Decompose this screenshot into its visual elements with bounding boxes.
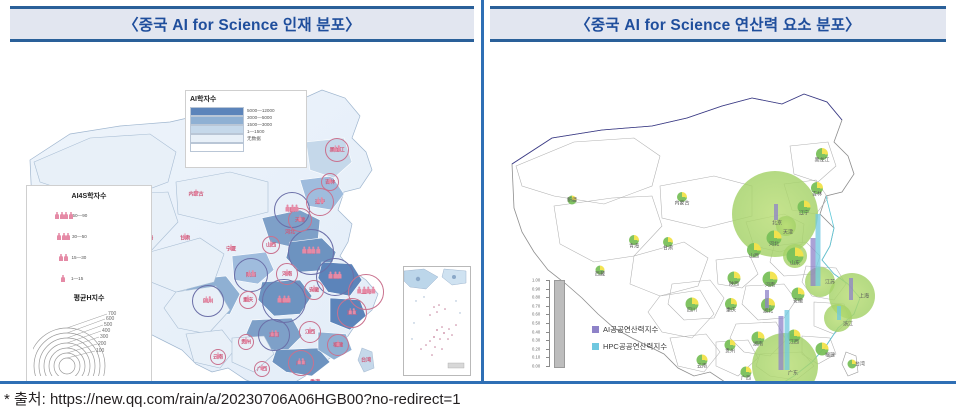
panel-divider	[481, 0, 484, 384]
right-map: 新疆 西藏 青海 甘肃 内蒙古 黑龙江 吉林 辽宁 北京 天津 河北 山西 山东…	[482, 42, 956, 382]
hpc-bar	[816, 214, 821, 286]
province-label: 安徽	[793, 298, 803, 305]
province-label: 湖北	[763, 308, 773, 315]
people-icon	[205, 296, 212, 302]
province-label: 江苏	[825, 279, 835, 286]
hpc-color-swatch	[592, 343, 599, 350]
ai-color-swatch	[592, 326, 599, 333]
people-icon	[334, 145, 341, 151]
ai-bar	[849, 278, 853, 300]
province-label: 甘肃	[663, 245, 673, 252]
people-icon	[317, 197, 324, 203]
people-icon	[278, 296, 291, 303]
province-label: 湖南	[753, 341, 763, 348]
left-map: 新疆 西藏 青海 甘肃 内蒙古 黑龙江 吉林 辽宁 北京 天津 河北 山西 山东…	[0, 42, 482, 382]
scale-tick: 0.50	[532, 321, 540, 326]
people-icon	[271, 330, 278, 336]
legend-key-ai-label: AI공공연산력지수	[603, 324, 658, 335]
legend-ai4s-range: 30—50	[72, 234, 87, 239]
figure-page: 〈중국 AI for Science 인재 분포〉	[0, 0, 956, 418]
figure-bottom-rule	[0, 381, 956, 384]
legend-ai4s-range: 15—30	[72, 255, 87, 260]
legend-ai4s-row: 30—50	[33, 226, 145, 247]
hindex-tick: 100	[96, 348, 105, 354]
province-label: 浙江	[843, 321, 853, 328]
province-label: 重庆	[726, 307, 736, 314]
province-label: 上海	[859, 293, 869, 300]
province-label: 山东	[790, 260, 800, 267]
legend-ai4s-range: 50—90	[73, 213, 88, 218]
province-label: 辽宁	[799, 210, 809, 217]
province-label: 贵州	[725, 348, 735, 355]
people-icon	[230, 244, 233, 250]
scale-tick: 0.10	[532, 355, 540, 360]
scale-tick: 0.60	[532, 312, 540, 317]
footer: * 출처: https://new.qq.com/rain/a/20230706…	[0, 386, 956, 418]
province-label: 新疆	[567, 197, 577, 204]
legend-ai-scholars-title: AI학자수	[190, 94, 302, 104]
people-icon	[299, 215, 302, 221]
people-icon	[217, 352, 220, 358]
legend-hindex-circles: 700 600 500 400 300 200 100	[33, 304, 133, 376]
people-icon	[302, 247, 320, 254]
ai-bar	[779, 316, 784, 370]
province-label: 陕西	[729, 281, 739, 288]
scale-tick: 1.00	[532, 278, 540, 283]
province-label: 吉林	[812, 191, 822, 198]
legend-ai4s-title: AI4S학자수	[33, 191, 145, 201]
people-icon	[184, 233, 187, 239]
legend-ai-scholars: AI학자수 5000—12000 3000—5000 1500—3000 1—1…	[185, 90, 307, 168]
people-icon	[286, 269, 289, 275]
people-icon	[313, 285, 316, 291]
province-label: 广东	[788, 370, 798, 377]
people-icon	[248, 270, 255, 276]
people-icon	[329, 272, 342, 279]
province-label: 河北	[769, 241, 779, 248]
province-label: 江西	[789, 339, 799, 346]
legend-ai4s-row: 1—15	[33, 268, 145, 289]
hpc-bar	[837, 306, 841, 320]
scale-tick: 0.80	[532, 295, 540, 300]
hindex-tick: 300	[100, 334, 109, 340]
province-label: 云南	[697, 363, 707, 370]
scale-tick: 0.00	[532, 364, 540, 369]
province-label: 台湾	[361, 357, 371, 364]
province-label: 四川	[687, 307, 697, 314]
province-label: 黑龙江	[814, 157, 829, 164]
province-label: 天津	[783, 229, 793, 236]
inset-map-svg	[404, 267, 468, 373]
scale-tick: 0.70	[532, 303, 540, 308]
people-icon	[298, 358, 305, 364]
scale-tick: 0.40	[532, 329, 540, 334]
legend-ai4s-row: 50—90	[33, 205, 145, 226]
legend-range: 3000—5000	[247, 114, 275, 121]
people-icon	[309, 327, 312, 333]
scale-tick: 0.90	[532, 286, 540, 291]
legend-range: 1—1500	[247, 128, 275, 135]
people-icon	[349, 308, 356, 314]
people-icon	[337, 340, 340, 346]
right-panel-header: 〈중국 AI for Science 연산력 요소 분포〉	[490, 6, 946, 42]
province-label: 青海	[629, 243, 639, 250]
ai-bar	[765, 290, 769, 308]
source-note: * 출처: https://new.qq.com/rain/a/20230706…	[4, 388, 461, 409]
province-label: 西藏	[595, 271, 605, 278]
scale-tick: 0.20	[532, 346, 540, 351]
people-icon	[247, 295, 250, 301]
legend-ai4s-and-hindex: AI4S학자수 50—90 30—50	[26, 185, 152, 382]
legend-key-ai: AI공공연산력지수	[592, 324, 658, 335]
left-panel-title: 〈중국 AI for Science 인재 분포〉	[123, 13, 361, 35]
scale-bar	[554, 280, 565, 368]
people-icon	[286, 205, 299, 212]
province-label: 山西	[749, 253, 759, 260]
legend-ai4s-range: 1—15	[71, 276, 83, 281]
people-icon	[245, 337, 248, 343]
people-icon	[357, 287, 375, 294]
inset-map-south-china-sea	[403, 266, 471, 376]
legend-ai4s-row: 15—30	[33, 247, 145, 268]
panel-right: 〈중국 AI for Science 연산력 요소 분포〉	[482, 0, 956, 384]
legend-range: 无数据	[247, 135, 275, 142]
people-icon	[329, 177, 332, 183]
province-label: 内蒙古	[674, 200, 689, 207]
left-panel-header: 〈중국 AI for Science 인재 분포〉	[10, 6, 474, 42]
province-label: 福建	[825, 352, 835, 359]
province-label: 台湾	[855, 361, 865, 368]
ai-bar	[811, 238, 816, 286]
legend-compute-scale: 1.00 0.90 0.80 0.70 0.60 0.50 0.40 0.30 …	[532, 280, 582, 370]
legend-hindex-title: 평균H지수	[33, 293, 145, 303]
legend-swatch-column	[190, 107, 242, 152]
hindex-tick: 200	[98, 341, 107, 347]
legend-key-hpc: HPC공공연산력지수	[592, 341, 667, 352]
people-icon	[195, 189, 198, 195]
people-icon	[270, 240, 273, 246]
legend-key-hpc-label: HPC공공연산력지수	[603, 341, 667, 352]
ai-bar	[774, 204, 778, 220]
province-label: 河南	[765, 282, 775, 289]
legend-range: 1500—3000	[247, 121, 275, 128]
province-label: 北京	[772, 220, 782, 227]
legend-range: 5000—12000	[247, 107, 275, 114]
people-icon	[261, 364, 264, 370]
right-panel-title: 〈중국 AI for Science 연산력 요소 분포〉	[575, 13, 861, 35]
scale-tick: 0.30	[532, 338, 540, 343]
panel-left: 〈중국 AI for Science 인재 분포〉	[0, 0, 482, 384]
